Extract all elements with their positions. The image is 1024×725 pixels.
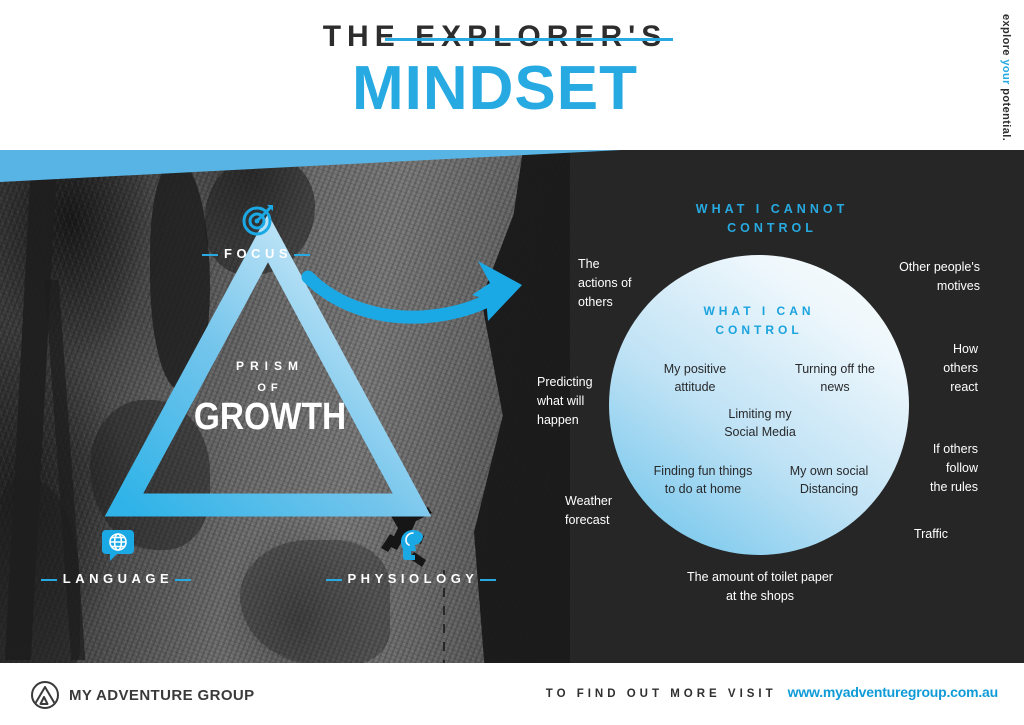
prism-node-focus[interactable]: FOCUS (188, 203, 328, 263)
title-explorers: EXPLORER'S (415, 20, 667, 53)
header: THE EXPLORER'S MINDSET (0, 0, 1024, 150)
title-line-2: MINDSET (0, 56, 990, 121)
can-control-item: Turning off the news (775, 360, 895, 396)
prism-node-physiology[interactable]: PHYSIOLOGY (318, 528, 508, 588)
item-line: happen (537, 411, 632, 430)
prism-node-label: LANGUAGE (63, 571, 173, 586)
item-line: Limiting my (700, 405, 820, 423)
item-line: My positive (640, 360, 750, 378)
mountain-circle-logo-icon (30, 680, 60, 710)
what-i-cannot-control-heading: WHAT I CANNOT CONTROL (520, 200, 1024, 238)
growth-word: GROWTH (85, 396, 455, 439)
cannot-control-item: Weather forecast (565, 492, 655, 530)
target-icon (241, 203, 275, 237)
item-line: The (578, 255, 668, 274)
item-line: the rules (878, 478, 978, 497)
control-diagram: WHAT I CANNOT CONTROL WHAT I CAN CONTROL… (520, 150, 1024, 630)
vertical-tagline: explore your potential. (990, 14, 1018, 144)
cannot-control-item: How others react (880, 340, 978, 396)
tagline-part-3: potential. (1000, 85, 1012, 141)
item-line: Finding fun things (638, 462, 768, 480)
prism-node-label: FOCUS (224, 246, 292, 261)
item-line: Predicting (537, 373, 632, 392)
cannot-control-item: Predicting what will happen (537, 373, 632, 429)
item-line: actions of (578, 274, 668, 293)
title-strikethrough (385, 38, 674, 41)
tagline-part-2: your (1000, 59, 1012, 84)
item-line: My own social (773, 462, 885, 480)
prism-node-language[interactable]: LANGUAGE (28, 528, 208, 588)
cannot-control-item: If others follow the rules (878, 440, 978, 496)
item-line: attitude (640, 378, 750, 396)
item-line: How (880, 340, 978, 359)
website-url[interactable]: www.myadventuregroup.com.au (788, 684, 998, 700)
item-line: follow (878, 459, 978, 478)
cannot-heading-line1: WHAT I CANNOT (520, 200, 1024, 219)
item-line: news (775, 378, 895, 396)
item-line: Other people's (830, 258, 980, 277)
cannot-control-item: Traffic (868, 525, 948, 544)
item-line: Traffic (868, 525, 948, 544)
item-line: what will (537, 392, 632, 411)
item-line: at the shops (600, 587, 920, 606)
tagline-text: explore your potential. (1000, 14, 1012, 141)
speech-bubble-globe-icon (102, 528, 134, 562)
item-line: react (880, 378, 978, 397)
title-line-1: THE EXPLORER'S (323, 22, 668, 52)
item-line: to do at home (638, 480, 768, 498)
can-control-item: My own social Distancing (773, 462, 885, 498)
title-the: THE (323, 20, 415, 53)
item-line: forecast (565, 511, 655, 530)
cannot-heading-line2: CONTROL (520, 219, 1024, 238)
can-control-item: My positive attitude (640, 360, 750, 396)
brand-name: MY ADVENTURE GROUP (69, 687, 255, 704)
cannot-control-item: The amount of toilet paper at the shops (600, 568, 920, 606)
item-line: If others (878, 440, 978, 459)
head-brain-icon (397, 528, 429, 562)
page-title: THE EXPLORER'S MINDSET (0, 22, 990, 121)
prism-node-label: PHYSIOLOGY (348, 571, 479, 586)
footer: MY ADVENTURE GROUP TO FIND OUT MORE VISI… (0, 663, 1024, 725)
item-line: Distancing (773, 480, 885, 498)
item-line: Social Media (700, 423, 820, 441)
item-line: others (880, 359, 978, 378)
cta-label: TO FIND OUT MORE VISIT (546, 688, 777, 700)
item-line: The amount of toilet paper (600, 568, 920, 587)
item-line: motives (830, 277, 980, 296)
item-line: Weather (565, 492, 655, 511)
cannot-control-item: The actions of others (578, 255, 668, 311)
can-control-item: Finding fun things to do at home (638, 462, 768, 498)
poster-canvas: PRISM OF GROWTH FOCUS LANGUAGE (0, 0, 1024, 725)
prism-word: PRISM (60, 360, 480, 373)
can-control-item: Limiting my Social Media (700, 405, 820, 441)
item-line: others (578, 293, 668, 312)
prism-center-text: PRISM OF GROWTH (60, 360, 480, 439)
cannot-control-item: Other people's motives (830, 258, 980, 296)
brand-logo[interactable]: MY ADVENTURE GROUP (30, 680, 255, 710)
can-heading-line2: CONTROL (609, 321, 909, 340)
footer-cta: TO FIND OUT MORE VISIT www.myadventuregr… (546, 684, 998, 700)
curved-arrow-icon (300, 255, 540, 335)
item-line: Turning off the (775, 360, 895, 378)
of-word: OF (60, 382, 480, 394)
tagline-part-1: explore (1000, 14, 1012, 59)
